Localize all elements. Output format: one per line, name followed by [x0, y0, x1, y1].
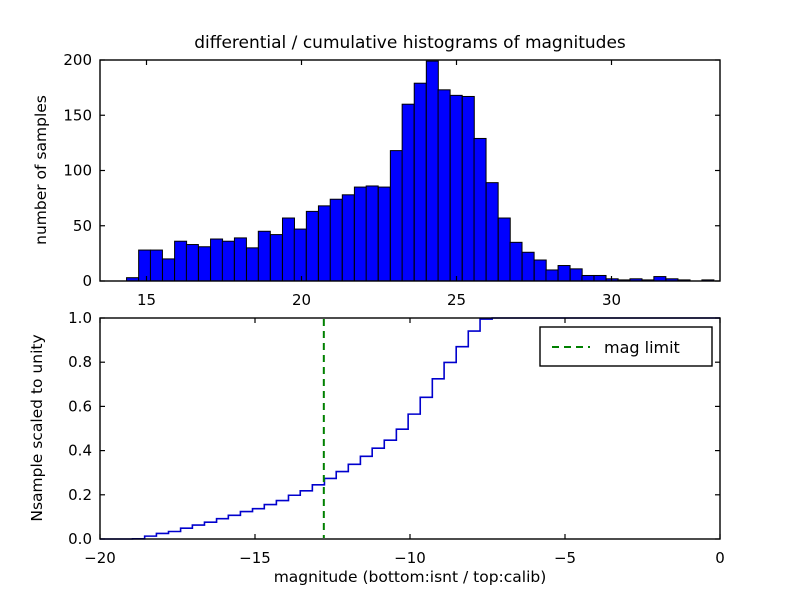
- bottom-x-tick-label: −5: [554, 549, 576, 567]
- bottom-y-tick-label: 0.6: [68, 397, 92, 415]
- histogram-bar: [282, 218, 294, 281]
- histogram-bar: [390, 151, 402, 281]
- histogram-bar: [474, 138, 486, 281]
- bottom-y-axis-label: Nsample scaled to unity: [28, 334, 46, 521]
- histogram-bar: [534, 260, 546, 281]
- bottom-x-tick-label: 0: [715, 549, 725, 567]
- top-x-tick-label: 20: [292, 291, 311, 309]
- bottom-y-tick-label: 0.4: [68, 442, 92, 460]
- histogram-bar: [378, 187, 390, 281]
- histogram-bar: [306, 211, 318, 281]
- top-panel-differential-histogram: differential / cumulative histograms of …: [32, 33, 720, 309]
- top-y-axis-label: number of samples: [32, 95, 50, 245]
- histogram-bar: [211, 239, 223, 281]
- histogram-bar: [582, 275, 594, 281]
- histogram-bar: [594, 275, 606, 281]
- histogram-bar: [414, 83, 426, 281]
- histogram-bar: [234, 238, 246, 281]
- histogram-bar: [139, 250, 151, 281]
- histogram-bar: [462, 96, 474, 281]
- histogram-bar: [558, 266, 570, 281]
- histogram-bar: [570, 269, 582, 281]
- bottom-x-tick-label: −15: [239, 549, 271, 567]
- histogram-bar: [522, 252, 534, 281]
- histogram-bar: [546, 270, 558, 281]
- top-y-tick-label: 100: [63, 162, 92, 180]
- top-x-tick-label: 25: [447, 291, 466, 309]
- top-y-tick-label: 0: [82, 272, 92, 290]
- histogram-bar: [294, 229, 306, 281]
- histogram-bar: [270, 235, 282, 281]
- legend-label-mag-limit: mag limit: [604, 338, 680, 357]
- legend[interactable]: mag limit: [540, 327, 712, 366]
- histogram-bar: [222, 241, 234, 281]
- top-y-tick-label: 50: [73, 217, 92, 235]
- histogram-bar: [366, 186, 378, 281]
- bottom-x-tick-label: −10: [394, 549, 426, 567]
- bottom-x-tick-label: −20: [84, 549, 116, 567]
- histogram-bar: [510, 242, 522, 281]
- matplotlib-figure: differential / cumulative histograms of …: [0, 0, 800, 600]
- histogram-bar: [426, 61, 438, 281]
- figure-canvas: differential / cumulative histograms of …: [0, 0, 800, 600]
- histogram-bar: [258, 231, 270, 281]
- bottom-y-tick-label: 0.8: [68, 353, 92, 371]
- histogram-bar: [186, 245, 198, 281]
- histogram-bar: [486, 183, 498, 281]
- histogram-bar: [175, 241, 187, 281]
- bottom-y-tick-label: 0.2: [68, 486, 92, 504]
- x-axis-label: magnitude (bottom:isnt / top:calib): [274, 568, 547, 586]
- histogram-bar: [163, 259, 175, 281]
- histogram-bar: [450, 95, 462, 281]
- bottom-y-tick-label: 1.0: [68, 309, 92, 327]
- histogram-bar: [402, 104, 414, 281]
- histogram-bar: [354, 187, 366, 281]
- histogram-bar: [438, 90, 450, 281]
- histogram-bar: [330, 199, 342, 281]
- histogram-bar: [150, 250, 162, 281]
- histogram-bar: [247, 248, 259, 281]
- bottom-y-tick-label: 0.0: [68, 530, 92, 548]
- top-y-tick-label: 150: [63, 106, 92, 124]
- top-y-tick-label: 200: [63, 51, 92, 69]
- histogram-bar: [318, 206, 330, 281]
- figure-title: differential / cumulative histograms of …: [194, 33, 626, 53]
- top-x-tick-label: 15: [137, 291, 156, 309]
- histogram-bar: [198, 247, 210, 281]
- top-x-tick-label: 30: [602, 291, 621, 309]
- histogram-bar: [342, 195, 354, 281]
- histogram-bar: [498, 218, 510, 281]
